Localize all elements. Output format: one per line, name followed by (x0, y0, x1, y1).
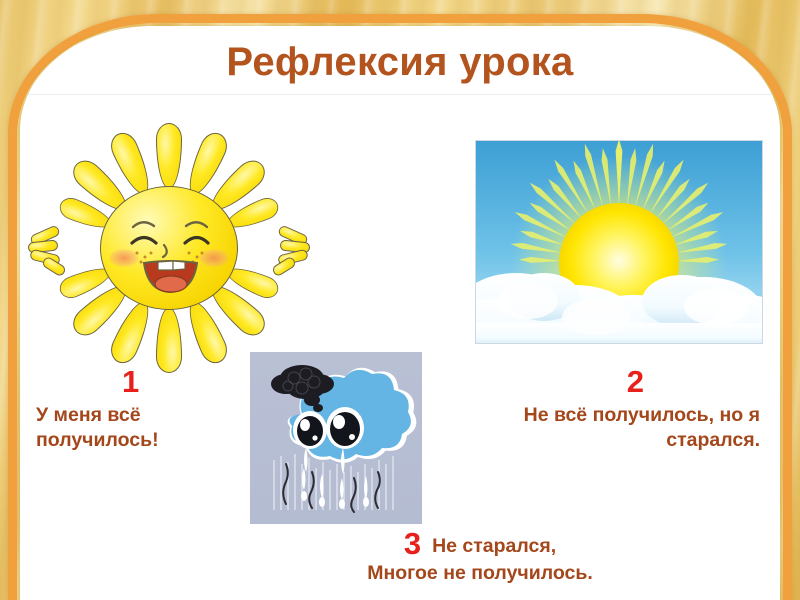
sun-hand-right (264, 228, 310, 268)
option-1-number: 1 (122, 366, 236, 397)
option-1-caption: 1 У меня всё получилось! (36, 366, 236, 453)
sun-over-clouds-image (475, 140, 763, 344)
sun-face-disc (100, 186, 238, 310)
slide-paper: Рефлексия урока (20, 26, 780, 600)
option-3-caption: 3Не старался, Многое не получилось. (270, 528, 690, 586)
option-3-number: 3 (404, 528, 421, 559)
option-2-text: Не всё получилось, но я старался. (524, 404, 760, 451)
smiling-sun-icon (34, 124, 304, 372)
option-2-caption: 2 Не всё получилось, но я старался. (490, 366, 760, 453)
option-3-text-line-1: Не старался, (432, 535, 556, 557)
sun-clouds-artwork (476, 141, 762, 343)
option-1-text: У меня всё получилось! (36, 404, 159, 451)
sun-ray (156, 307, 182, 373)
title-divider (24, 94, 776, 95)
slide-canvas: Рефлексия урока (0, 0, 800, 600)
sun-hand-left (28, 228, 74, 268)
page-title: Рефлексия урока (20, 40, 780, 85)
option-3-text-line-2: Многое не получилось. (270, 561, 690, 586)
option-2-number: 2 (490, 366, 644, 397)
rain-cloud-artwork (250, 352, 422, 524)
crying-rain-cloud-image (250, 352, 422, 524)
sun-face-features (101, 187, 239, 311)
content-stage: 1 У меня всё получилось! 2 Не всё получи… (20, 96, 780, 600)
sun-ray (156, 123, 182, 189)
